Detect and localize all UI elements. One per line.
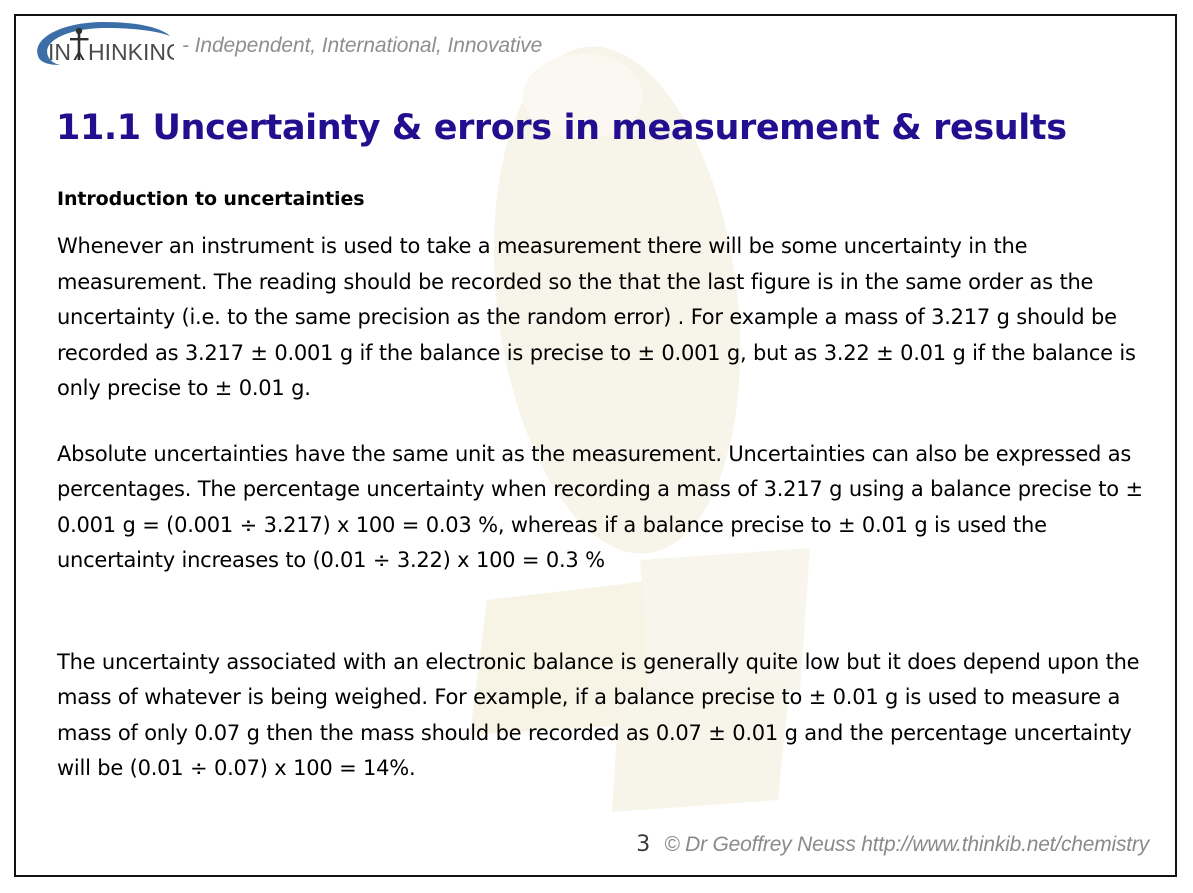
body-content: Introduction to uncertainties Whenever a… <box>57 188 1157 787</box>
logo-icon: IN HINKING <box>22 18 174 70</box>
page-title: 11.1 Uncertainty & errors in measurement… <box>56 108 1067 148</box>
logo-word-in: IN <box>48 39 71 65</box>
tagline: - Independent, International, Innovative <box>182 34 542 58</box>
paragraph-1: Whenever an instrument is used to take a… <box>57 229 1157 407</box>
paragraph-spacer-1 <box>57 407 1157 437</box>
slide: IN HINKING - Independent, International,… <box>0 0 1193 893</box>
page-number: 3 <box>636 832 650 857</box>
inthinking-logo[interactable]: IN HINKING <box>22 18 174 70</box>
paragraph-3: The uncertainty associated with an elect… <box>57 645 1157 787</box>
paragraph-spacer-2 <box>57 579 1157 645</box>
header: IN HINKING - Independent, International,… <box>22 14 542 74</box>
section-subheading: Introduction to uncertainties <box>57 188 1157 210</box>
footer: 3 © Dr Geoffrey Neuss http://www.thinkib… <box>0 832 1193 857</box>
copyright-notice: © Dr Geoffrey Neuss http://www.thinkib.n… <box>664 833 1149 857</box>
paragraph-2: Absolute uncertainties have the same uni… <box>57 437 1157 579</box>
logo-word-hinking: HINKING <box>88 39 174 65</box>
logo-stick-figure-icon <box>70 28 89 60</box>
